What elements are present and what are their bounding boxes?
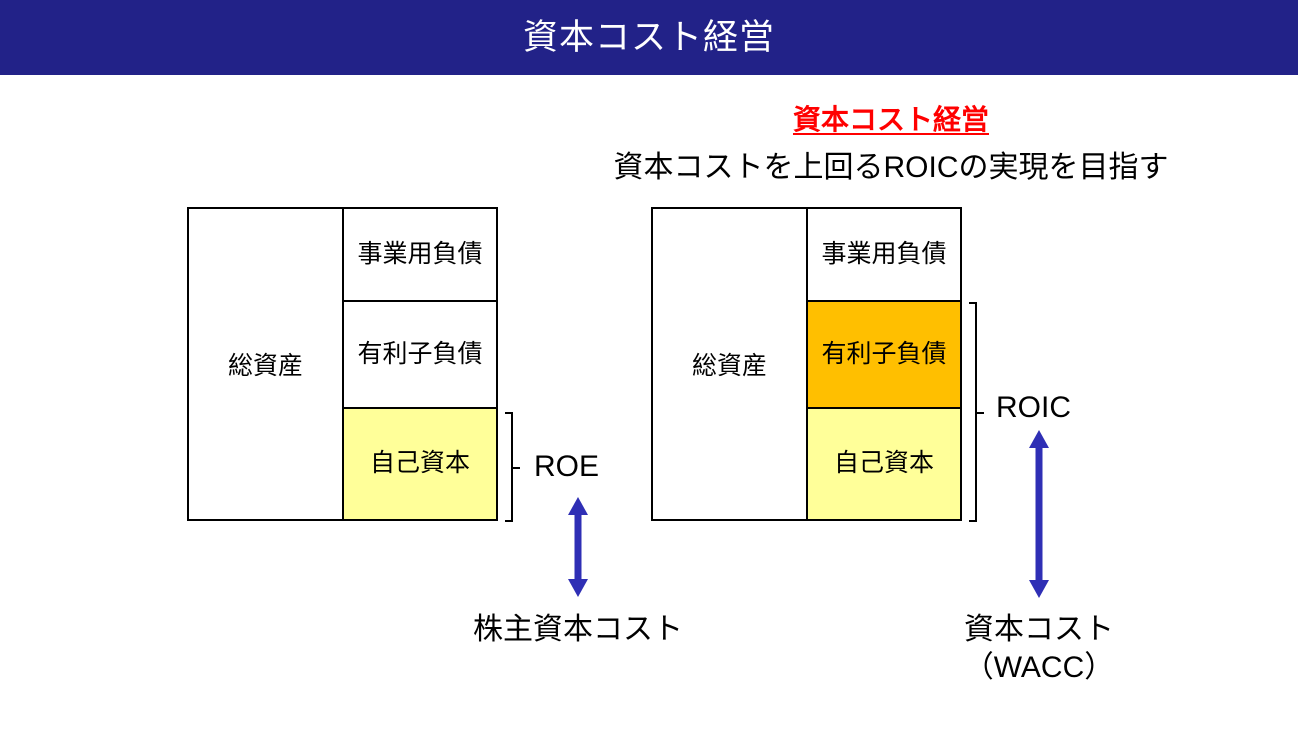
right-interest-bearing-debt-cell: 有利子負債 xyxy=(808,302,960,409)
left-total-assets-label: 総資産 xyxy=(228,346,303,382)
wacc-caption-line2: （WACC） xyxy=(839,649,1239,687)
right-equity-cell: 自己資本 xyxy=(808,409,960,519)
balance-sheet-right: 総資産 事業用負債 有利子負債 自己資本 xyxy=(651,207,962,521)
shareholder-cost-arrow xyxy=(565,497,591,597)
left-equity-cell: 自己資本 xyxy=(344,409,496,519)
shareholder-cost-caption-line1: 株主資本コスト xyxy=(378,611,778,649)
right-operating-liabilities-label: 事業用負債 xyxy=(821,240,946,270)
section-heading-red: 資本コスト経営 xyxy=(651,104,1131,136)
left-interest-bearing-debt-cell: 有利子負債 xyxy=(344,302,496,409)
right-operating-liabilities-cell: 事業用負債 xyxy=(808,209,960,302)
title-bar: 資本コスト経営 xyxy=(0,0,1298,75)
roe-label: ROE xyxy=(534,452,599,482)
left-equity-label: 自己資本 xyxy=(370,449,470,479)
right-liabilities-column: 事業用負債 有利子負債 自己資本 xyxy=(808,209,960,519)
balance-sheet-left: 総資産 事業用負債 有利子負債 自己資本 xyxy=(187,207,498,521)
double-arrow-icon xyxy=(1026,430,1052,598)
roic-bracket xyxy=(969,302,985,522)
right-total-assets-cell: 総資産 xyxy=(653,209,808,519)
page-title: 資本コスト経営 xyxy=(523,20,775,55)
wacc-caption-line1: 資本コスト xyxy=(839,611,1239,649)
shareholder-cost-caption: 株主資本コスト xyxy=(378,611,778,649)
roic-bracket-cap-bottom xyxy=(969,520,977,522)
roic-label: ROIC xyxy=(996,393,1071,423)
left-liabilities-column: 事業用負債 有利子負債 自己資本 xyxy=(344,209,496,519)
left-interest-bearing-debt-label: 有利子負債 xyxy=(357,340,482,370)
wacc-arrow xyxy=(1026,430,1052,598)
left-operating-liabilities-cell: 事業用負債 xyxy=(344,209,496,302)
roe-bracket xyxy=(505,412,521,522)
wacc-caption: 資本コスト （WACC） xyxy=(839,611,1239,686)
right-equity-label: 自己資本 xyxy=(834,449,934,479)
left-total-assets-cell: 総資産 xyxy=(189,209,344,519)
roe-bracket-tick xyxy=(511,467,520,469)
left-operating-liabilities-label: 事業用負債 xyxy=(357,240,482,270)
section-subtitle: 資本コストを上回るROICの実現を目指す xyxy=(561,150,1221,186)
roe-bracket-cap-bottom xyxy=(505,520,513,522)
right-total-assets-label: 総資産 xyxy=(692,346,767,382)
right-interest-bearing-debt-label: 有利子負債 xyxy=(821,340,946,370)
roic-bracket-tick xyxy=(975,412,984,414)
double-arrow-icon xyxy=(565,497,591,597)
